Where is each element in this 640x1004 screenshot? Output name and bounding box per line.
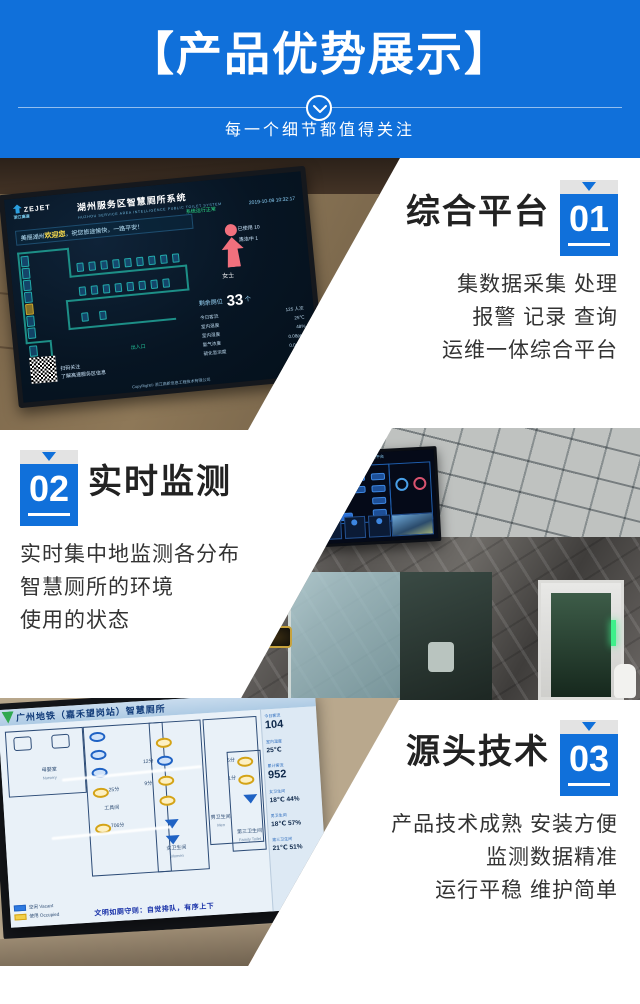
feature-badge-02: 02: [20, 450, 78, 526]
chevron-down-icon: [306, 95, 332, 121]
triangle-down-icon: [582, 722, 596, 731]
triangle-down-icon: [582, 182, 596, 191]
feature-badge-03: 03: [560, 720, 618, 796]
feature-number-03: 03: [560, 736, 618, 782]
feature-section-03: 广州地铁（嘉禾望岗站）智慧厕所 母婴室Nursery: [0, 698, 640, 966]
desc-line: 监测数据精准: [340, 841, 618, 874]
stat-item: 今日客流104: [264, 710, 314, 732]
qr-code-icon: [29, 356, 57, 384]
badge-box: 03: [560, 734, 618, 796]
stat-item: 第三卫生间21℃ 51%: [272, 834, 322, 854]
page-subtitle: 每一个细节都值得关注: [0, 120, 640, 142]
feature-text-03: 源头技术 03 产品技术成熟 安装方便 监测数据精准 运行平稳 维护简单: [340, 698, 640, 966]
desc-line: 实时集中地监测各分布: [20, 538, 300, 571]
metric-card: [368, 515, 391, 538]
desc-line: 运行平稳 维护简单: [340, 874, 618, 907]
desc-line: 报警 记录 查询: [340, 301, 618, 334]
legend-item-vacant: 空闲 Vacant: [14, 903, 59, 912]
pod-tag: 25分: [109, 787, 120, 795]
metric-cards: [294, 515, 391, 542]
desc-line: 运维一体综合平台: [340, 334, 618, 367]
fixture: [614, 664, 636, 698]
metric-card: [343, 516, 366, 539]
badge-tab: [560, 720, 618, 734]
floor-map: 出入口: [17, 233, 214, 370]
pod-tag: 5分: [227, 757, 235, 764]
board-legend: 空闲 Vacant 使用 Occupied: [14, 903, 60, 924]
badge-tab: [560, 180, 618, 194]
board-floorplan: 母婴室Nursery 工具间 25分 706分: [0, 710, 273, 928]
badge-underline: [568, 243, 610, 246]
stat-item: 男卫生间18℃ 57%: [270, 810, 320, 830]
system-status: 系统运行正常: [186, 206, 217, 216]
glass-partition: [288, 572, 408, 700]
stat-item: 室内温度25℃: [266, 736, 316, 756]
tv-screen-content-01: ZEJET 浙江高速 湖州服务区智慧厕所系统 HUZHOU SERVICE AR…: [4, 171, 320, 403]
tv-display-02: 智慧公厕环境监测管理平台: [283, 446, 442, 549]
feature-number-01: 01: [560, 196, 618, 242]
soap-dispenser: [428, 642, 454, 672]
legend-swatch-occupied: [14, 914, 26, 921]
badge-underline: [28, 513, 70, 516]
usage-counts: 已使用 10 清洁中 1: [237, 220, 299, 248]
stat-item: 女卫生间18℃ 44%: [269, 786, 319, 806]
desc-line: 智慧厕所的环境: [20, 571, 300, 604]
qr-caption: 扫码关注 了解高速服务区信息: [60, 361, 106, 381]
desc-line: 使用的状态: [20, 604, 300, 637]
badge-tab: [20, 450, 78, 464]
feature-photo-02: 智慧公厕环境监测管理平台: [240, 428, 640, 700]
header-divider: [0, 95, 640, 121]
exit-label: 出入口: [130, 343, 146, 351]
stat-item: 累计客流952: [267, 760, 317, 782]
feature-section-01: ZEJET 浙江高速 湖州服务区智慧厕所系统 HUZHOU SERVICE AR…: [0, 158, 640, 430]
tv-display-01: ZEJET 浙江高速 湖州服务区智慧厕所系统 HUZHOU SERVICE AR…: [0, 166, 326, 409]
tv-display-03: 广州地铁（嘉禾望岗站）智慧厕所 母婴室Nursery: [0, 698, 329, 928]
pod-tag: 9分: [144, 781, 152, 788]
legend-item-occupied: 使用 Occupied: [14, 912, 59, 921]
logo-mark-icon: [12, 204, 22, 214]
pod-tag: 1分: [228, 775, 236, 782]
product-advantage-page: 【产品优势展示】 每一个细节都值得关注 ZEJET 浙江高速: [0, 0, 640, 1004]
dark-door-panel: [400, 572, 492, 700]
feature-number-02: 02: [20, 466, 78, 512]
feature-text-02: 02 实时监测 实时集中地监测各分布 智慧厕所的环境 使用的状态: [0, 428, 300, 700]
metric-card: [319, 517, 342, 540]
gender-label: 女士: [222, 270, 235, 280]
feature-desc-03: 产品技术成熟 安装方便 监测数据精准 运行平稳 维护简单: [340, 808, 618, 907]
system-title: 湖州服务区智慧厕所系统 HUZHOU SERVICE AREA INTELLIG…: [76, 187, 222, 220]
desc-line: 产品技术成熟 安装方便: [340, 808, 618, 841]
board-banner: 文明如厕守则：自觉排队，有序上下: [94, 901, 214, 919]
page-title: 【产品优势展示】: [0, 26, 640, 82]
feature-badge-01: 01: [560, 180, 618, 256]
badge-box: 02: [20, 464, 78, 526]
triangle-down-icon: [42, 452, 56, 461]
feature-desc-01: 集数据采集 处理 报警 记录 查询 运维一体综合平台: [340, 268, 618, 367]
tv-screen-content-02: 智慧公厕环境监测管理平台: [286, 449, 438, 546]
green-indicator-light: [611, 620, 616, 646]
feature-section-02: 智慧公厕环境监测管理平台: [0, 428, 640, 700]
page-header: 【产品优势展示】 每一个细节都值得关注: [0, 0, 640, 158]
badge-box: 01: [560, 194, 618, 256]
feature-title-03: 源头技术: [406, 720, 550, 784]
feature-text-01: 综合平台 01 集数据采集 处理 报警 记录 查询 运维一体综合平台: [340, 158, 640, 430]
pod-tag: 12分: [143, 759, 154, 767]
environment-readouts: 今日客流125 人次 室内温度25℃ 室内湿度48% 氨气浓度0.08ppm 硫…: [200, 304, 308, 359]
video-preview: [391, 512, 434, 536]
feature-desc-02: 实时集中地监测各分布 智慧厕所的环境 使用的状态: [20, 538, 300, 637]
feature-title-01: 综合平台: [406, 180, 550, 244]
desc-line: 集数据采集 处理: [340, 268, 618, 301]
feature-title-02: 实时监测: [88, 450, 232, 514]
clock-readout: 2019-10-09 10:32:17: [249, 196, 296, 207]
badge-underline: [568, 783, 610, 786]
system-logo: ZEJET 浙江高速: [12, 201, 51, 221]
metro-logo-icon: [2, 711, 15, 724]
legend-swatch-vacant: [14, 905, 26, 912]
